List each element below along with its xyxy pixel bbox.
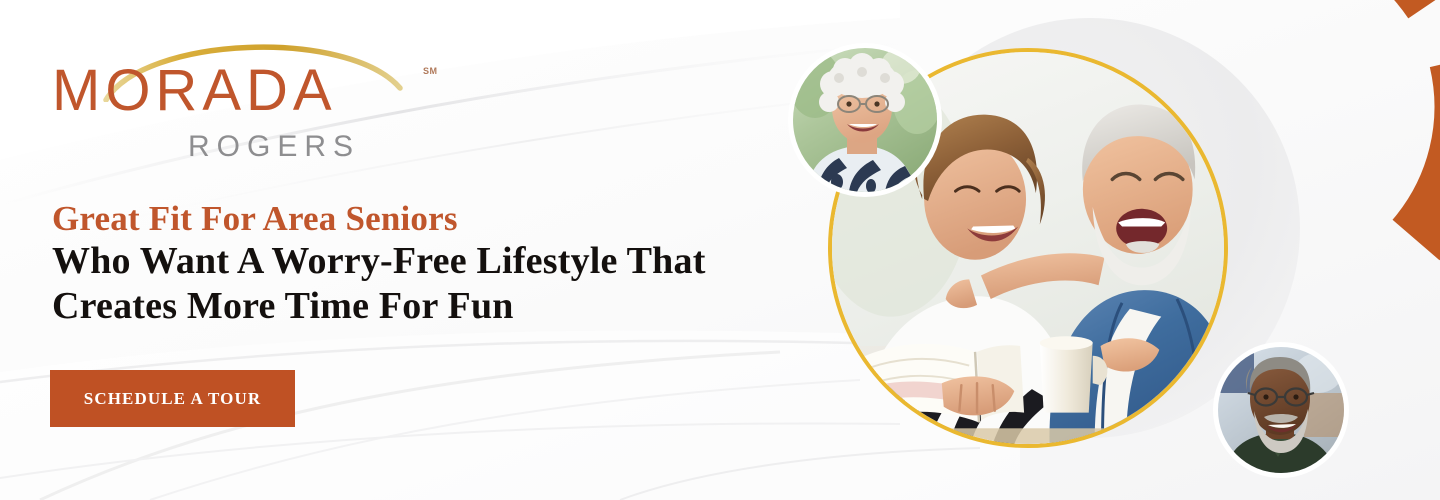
logo-trademark: SM <box>423 66 438 76</box>
schedule-a-tour-label: SCHEDULE A TOUR <box>84 389 261 409</box>
logo-community-text: ROGERS <box>188 132 360 162</box>
brand-logo[interactable]: MORADA SM ROGERS <box>48 22 448 167</box>
hero-banner: MORADA SM ROGERS Great Fit For Area Seni… <box>0 0 1440 500</box>
headline-line-2: Who Want A Worry-Free Lifestyle That <box>52 239 812 284</box>
hero-headline: Great Fit For Area Seniors Who Want A Wo… <box>52 198 812 329</box>
senior-woman-portrait <box>793 48 937 192</box>
headline-line-1: Great Fit For Area Seniors <box>52 198 812 239</box>
logo-brand-text: MORADA <box>52 62 337 120</box>
headline-line-3: Creates More Time For Fun <box>52 284 812 329</box>
schedule-a-tour-button[interactable]: SCHEDULE A TOUR <box>50 370 295 427</box>
senior-man-portrait <box>1218 347 1344 473</box>
